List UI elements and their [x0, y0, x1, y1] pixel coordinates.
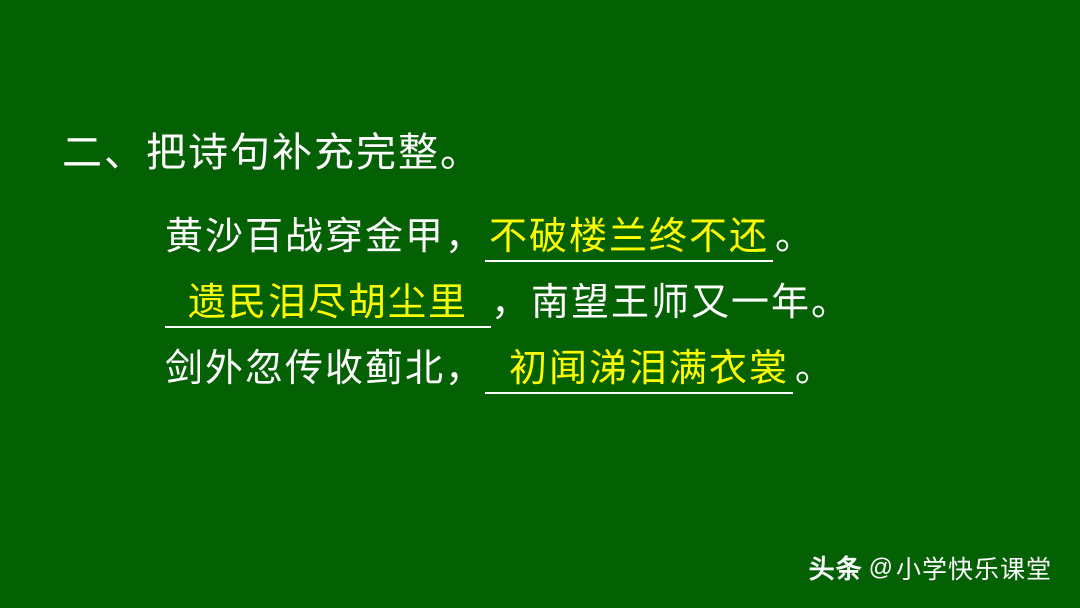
watermark-at-icon: @: [869, 554, 894, 582]
watermark-name: 小学快乐课堂: [896, 550, 1052, 586]
poem-line-1-punct: 。: [773, 218, 815, 256]
watermark: 头条 @ 小学快乐课堂: [809, 549, 1052, 586]
poem-line-1: 黄沙百战穿金甲， 不破楼兰终不还 。: [165, 218, 985, 262]
poem-line-2-answer[interactable]: 遗民泪尽胡尘里: [165, 284, 491, 328]
poem-line-3-given: 剑外忽传收蓟北，: [165, 350, 485, 388]
watermark-logo: 头条: [809, 549, 863, 586]
poem-line-2: 遗民泪尽胡尘里 ，南望王师又一年。: [165, 284, 985, 328]
poem-line-2-given: ，南望王师又一年。: [491, 284, 851, 322]
poem-line-1-answer[interactable]: 不破楼兰终不还: [485, 218, 773, 262]
poem-lines: 黄沙百战穿金甲， 不破楼兰终不还 。 遗民泪尽胡尘里 ，南望王师又一年。 剑外忽…: [165, 218, 985, 416]
poem-line-3: 剑外忽传收蓟北， 初闻涕泪满衣裳 。: [165, 350, 985, 394]
page-title: 二、把诗句补充完整。: [62, 120, 482, 178]
poem-line-3-answer[interactable]: 初闻涕泪满衣裳: [485, 350, 793, 394]
slide-canvas: 二、把诗句补充完整。 黄沙百战穿金甲， 不破楼兰终不还 。 遗民泪尽胡尘里 ，南…: [0, 0, 1080, 608]
poem-line-1-given: 黄沙百战穿金甲，: [165, 218, 485, 256]
poem-line-3-punct: 。: [793, 350, 835, 388]
